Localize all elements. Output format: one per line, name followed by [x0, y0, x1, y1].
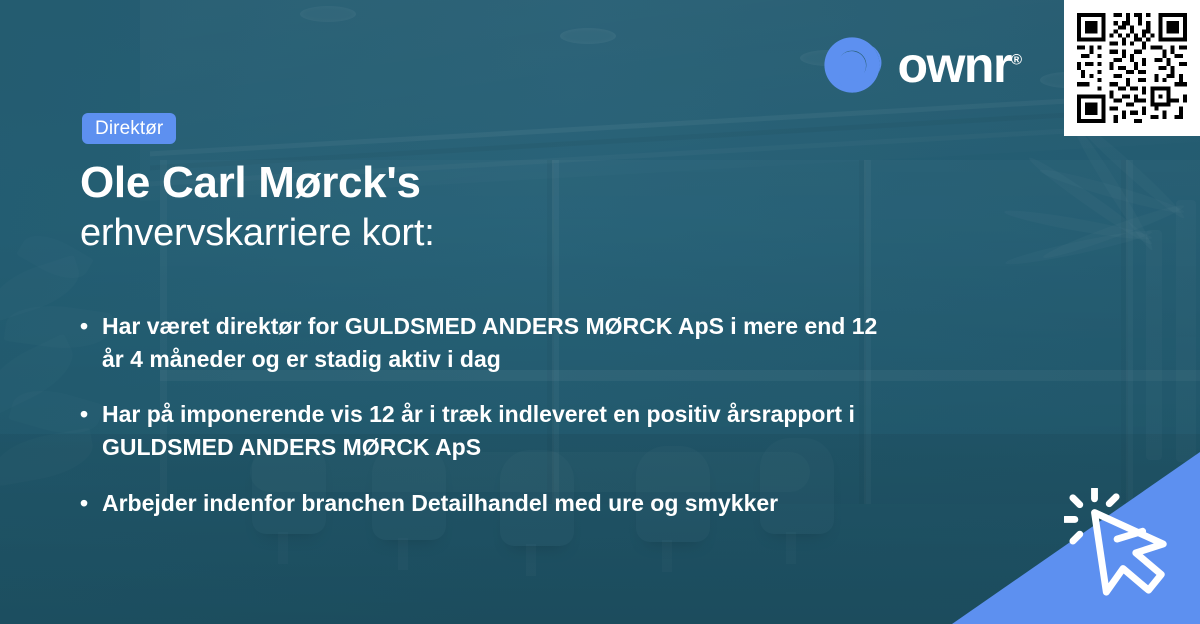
page-subtitle: erhvervskarriere kort: — [80, 212, 435, 255]
role-badge: Direktør — [82, 113, 176, 144]
bullet-marker: • — [80, 487, 102, 520]
list-item: • Har på imponerende vis 12 år i træk in… — [80, 398, 960, 463]
registered-mark: ® — [1011, 51, 1022, 68]
career-highlights-list: • Har været direktør for GULDSMED ANDERS… — [80, 310, 960, 542]
ownr-logo[interactable]: ownr® — [822, 35, 1023, 95]
list-item-text: Har været direktør for GULDSMED ANDERS M… — [102, 310, 902, 375]
career-card-canvas: ownr® — [0, 0, 1200, 624]
page-title: Ole Carl Mørck's — [80, 158, 421, 208]
role-badge-label: Direktør — [95, 118, 163, 140]
qr-code[interactable] — [1064, 0, 1200, 136]
list-item: • Arbejder indenfor branchen Detailhande… — [80, 487, 960, 520]
list-item: • Har været direktør for GULDSMED ANDERS… — [80, 310, 960, 375]
ownr-wordmark: ownr® — [898, 40, 1023, 90]
list-item-text: Har på imponerende vis 12 år i træk indl… — [102, 398, 902, 463]
bullet-marker: • — [80, 310, 102, 343]
ownr-wordmark-text: ownr — [898, 37, 1011, 93]
list-item-text: Arbejder indenfor branchen Detailhandel … — [102, 487, 902, 520]
bullet-marker: • — [80, 398, 102, 431]
card-content: ownr® — [0, 0, 1200, 624]
ownr-swirl-icon — [822, 35, 882, 95]
